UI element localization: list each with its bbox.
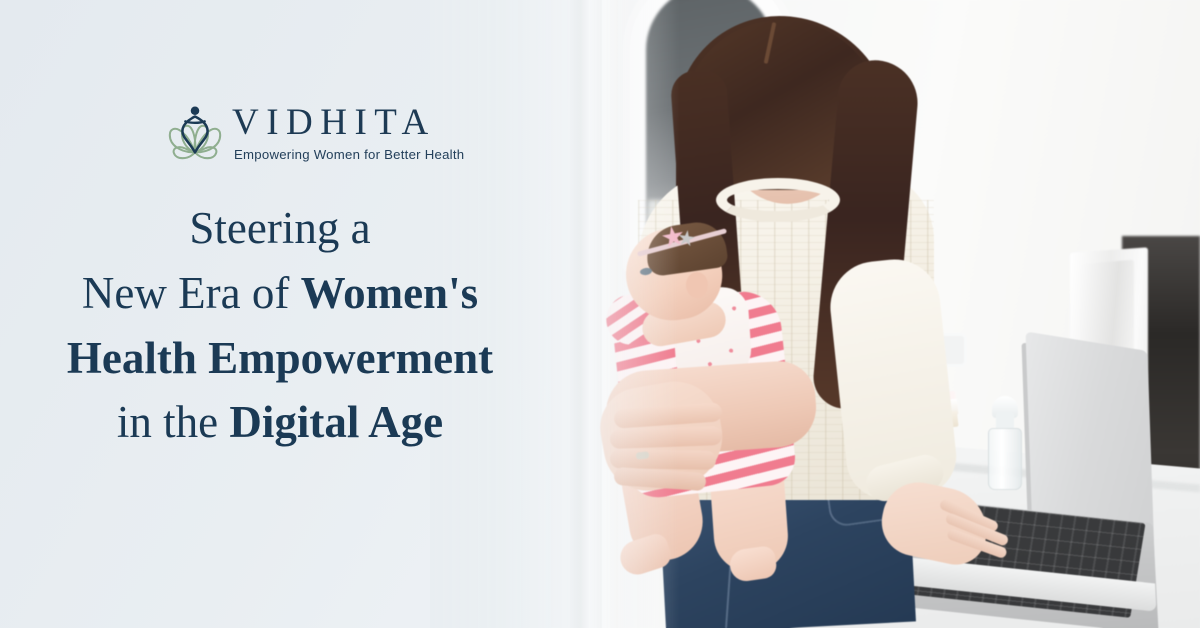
headline-line-2: New Era of Women's <box>0 261 560 326</box>
sweater-collar <box>716 178 840 222</box>
door-jamb <box>570 0 604 628</box>
headline-line-4: in the Digital Age <box>0 390 560 455</box>
wedding-ring <box>636 451 650 459</box>
holding-finger-two <box>610 426 723 449</box>
headline: Steering a New Era of Women's Health Emp… <box>0 196 560 455</box>
brand-tagline: Empowering Women for Better Health <box>234 147 464 162</box>
lotus-figure-icon <box>164 102 226 164</box>
headline-line-3: Health Empowerment <box>0 326 560 391</box>
headline-line-4-bold: Digital Age <box>229 397 443 447</box>
hero-banner: VIDHITA Empowering Women for Better Heal… <box>0 0 1200 628</box>
headline-line-1-text: Steering a <box>189 203 370 253</box>
headline-line-4-regular: in the <box>117 397 229 447</box>
headline-line-3-bold: Health Empowerment <box>67 333 493 383</box>
brand-wordmark: VIDHITA Empowering Women for Better Heal… <box>232 100 464 162</box>
brand-name: VIDHITA <box>232 104 464 141</box>
headline-line-2-regular: New Era of <box>82 268 301 318</box>
brand-logo[interactable]: VIDHITA Empowering Women for Better Heal… <box>164 100 464 164</box>
baby-bottle <box>988 428 1022 490</box>
banner-content: VIDHITA Empowering Women for Better Heal… <box>0 0 560 628</box>
baby-ear <box>686 272 708 298</box>
headline-line-1: Steering a <box>0 196 560 261</box>
headline-line-2-bold: Women's <box>301 268 479 318</box>
